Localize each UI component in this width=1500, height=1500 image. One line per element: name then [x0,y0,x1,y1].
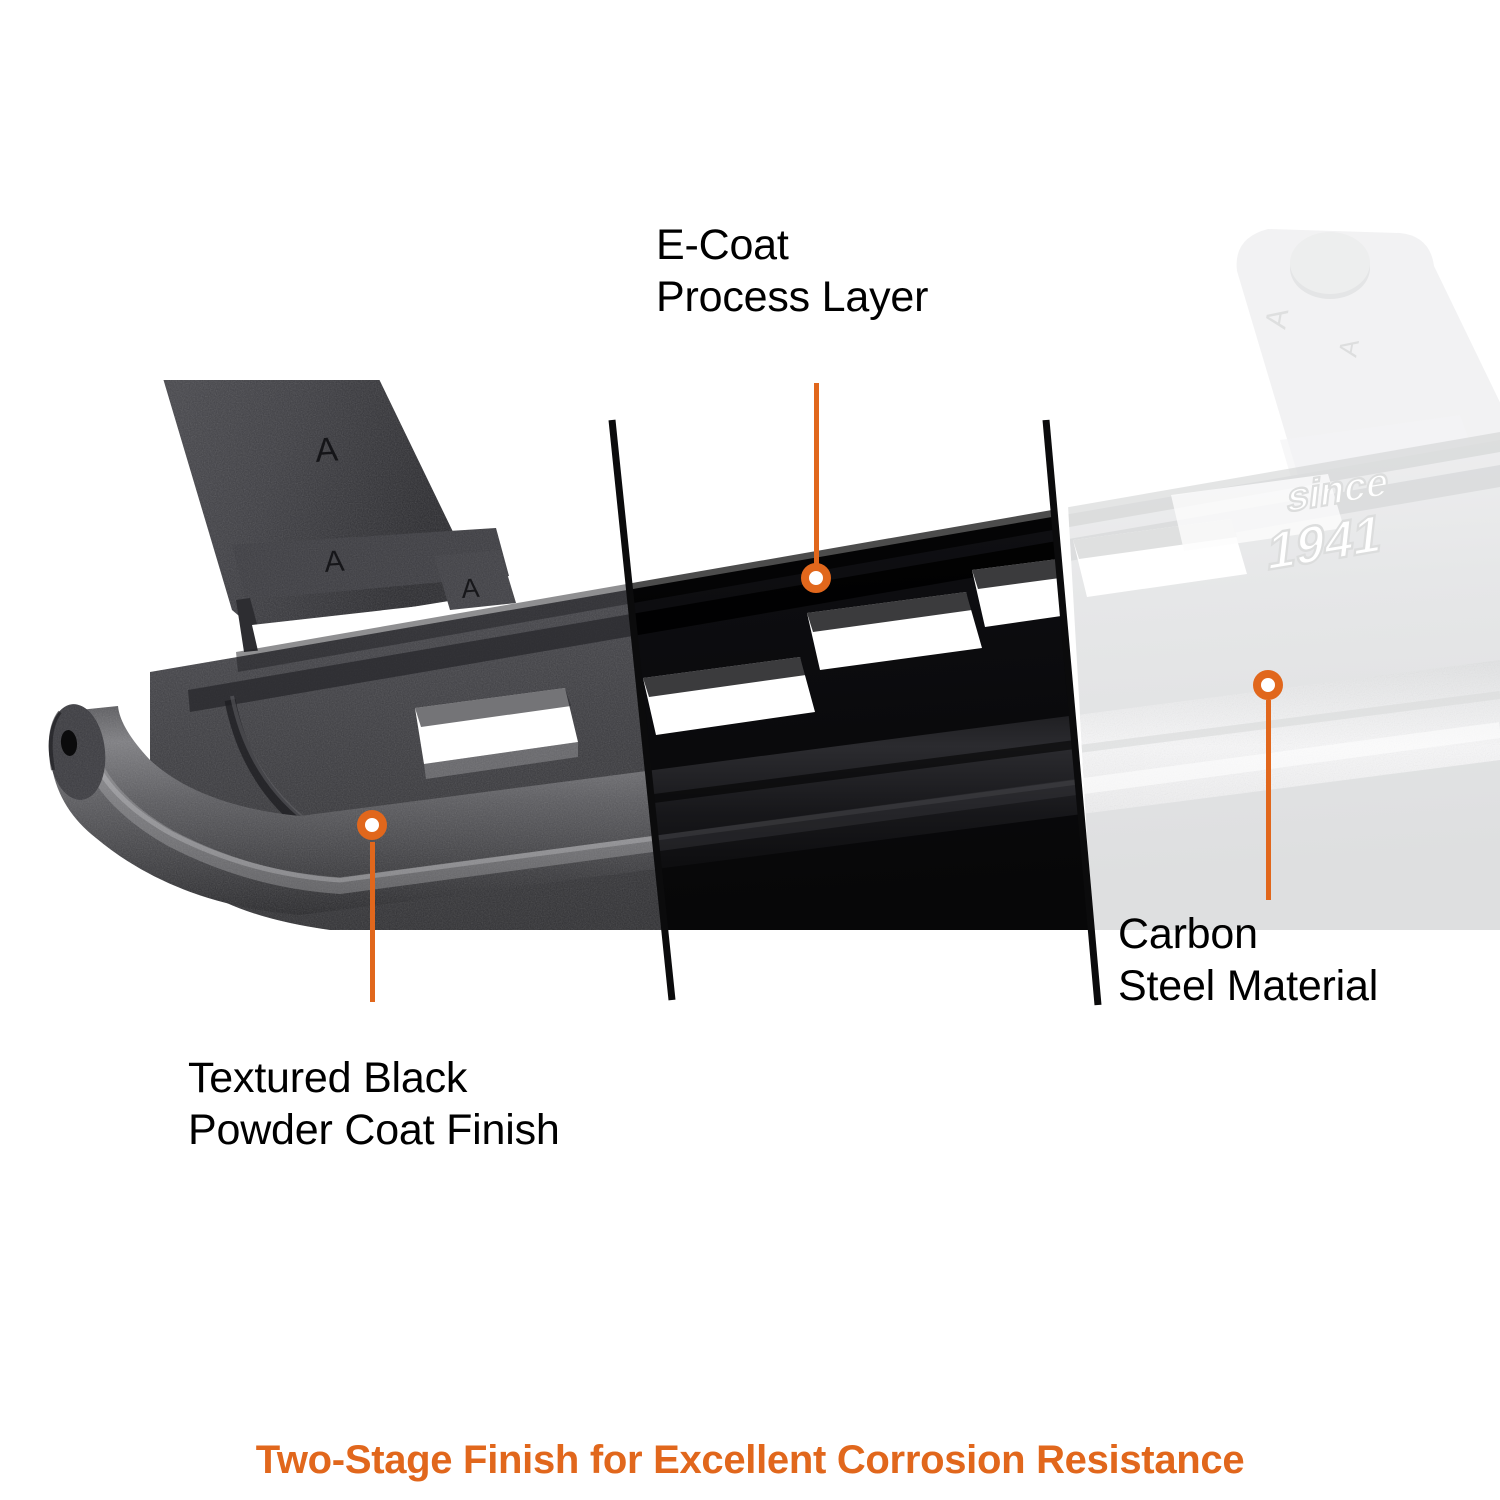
infographic-canvas: A A A [0,0,1500,1500]
callout-dot-powder-coat[interactable] [357,810,387,840]
callout-label-ecoat: E-Coat Process Layer [656,219,928,324]
callout-label-carbon-steel: Carbon Steel Material [1118,908,1378,1013]
leader-line-carbon-steel [1266,700,1271,900]
callout-label-powder-coat: Textured Black Powder Coat Finish [188,1052,560,1157]
leader-line-ecoat [814,383,819,578]
bracket-emboss-a-1: A [314,430,340,470]
callout-dot-ecoat[interactable] [801,563,831,593]
bottom-caption: Two-Stage Finish for Excellent Corrosion… [0,1438,1500,1483]
mount-bracket-left: A A A [137,249,516,652]
bracket-emboss-a-2: A [323,545,345,579]
callout-dot-carbon-steel[interactable] [1253,670,1283,700]
bracket-emboss-a-3: A [460,573,480,604]
leader-line-powder-coat [370,842,375,1002]
